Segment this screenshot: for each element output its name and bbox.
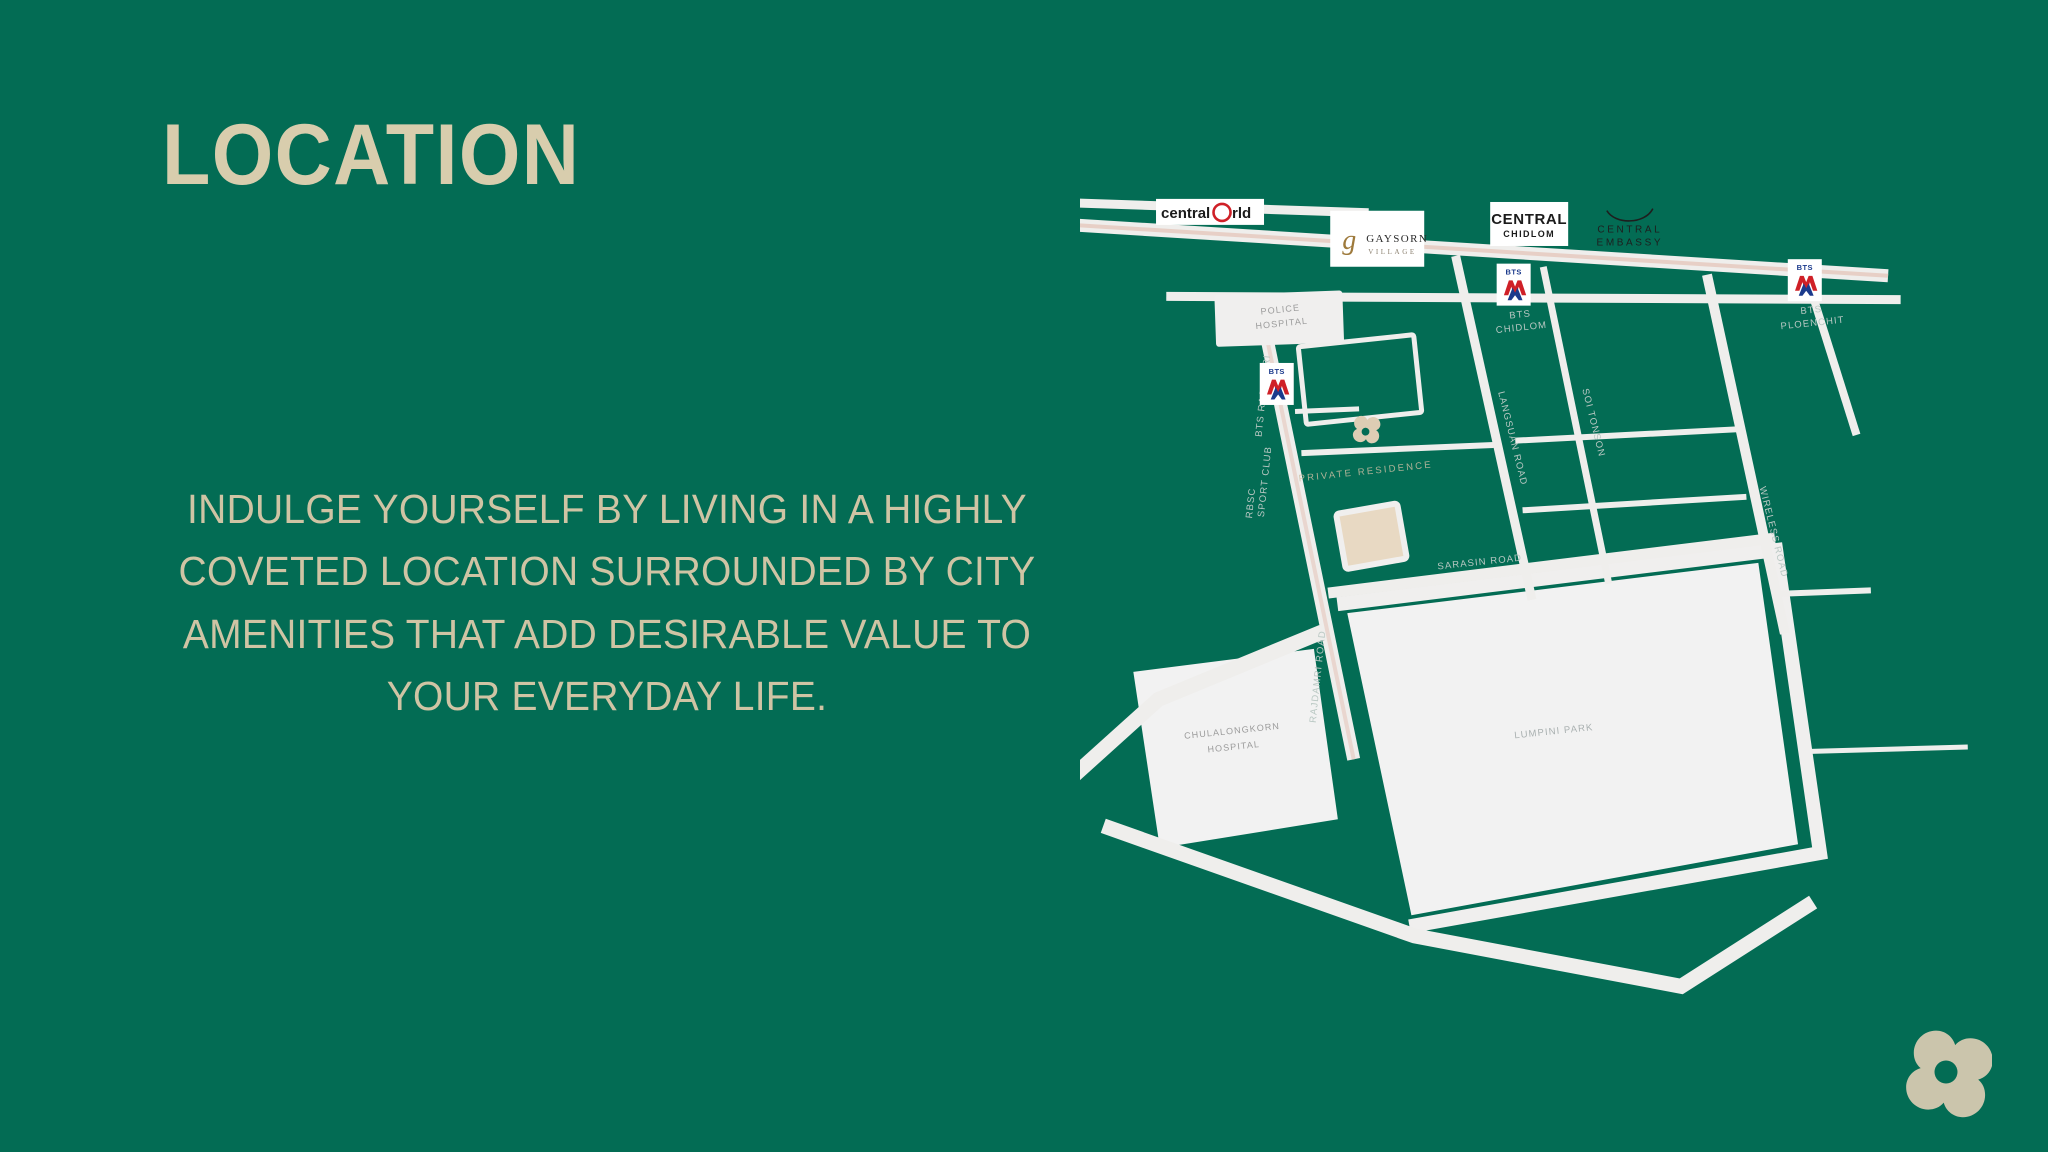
road-connector-f xyxy=(1811,735,1967,763)
brand-gaysorn-text-2: VILLAGE xyxy=(1368,248,1417,256)
road-connector-e xyxy=(1781,584,1871,599)
station-chidlom-label-1: BTS xyxy=(1509,308,1532,321)
bts-skytrain-line-horizontal xyxy=(1080,140,1888,366)
brand-gaysorn-text-1: GAYSORN xyxy=(1366,233,1428,245)
station-rajdamri-code: BTS xyxy=(1269,367,1285,376)
body-paragraph: INDULGE YOURSELF BY LIVING IN A HIGHLY C… xyxy=(137,478,1078,727)
brand-central-chidlom-text-1: CENTRAL xyxy=(1491,211,1567,228)
location-slide: LOCATION INDULGE YOURSELF BY LIVING IN A… xyxy=(0,0,2048,1152)
brand-central-chidlom-text-2: CHIDLOM xyxy=(1503,229,1555,239)
label-private-residence: PRIVATE RESIDENCE xyxy=(1298,459,1433,484)
brand-centralworld-text-b: rld xyxy=(1232,205,1251,222)
private-residence-building xyxy=(1336,503,1407,569)
station-ploenchit-code: BTS xyxy=(1797,263,1813,272)
road-connector-a xyxy=(1301,433,1493,465)
brand-centralworld[interactable]: central rld xyxy=(1156,199,1264,225)
station-ploenchit-label-2: PLOENCHIT xyxy=(1780,315,1845,333)
brand-central-chidlom[interactable]: CENTRAL CHIDLOM xyxy=(1490,202,1568,246)
station-bts-chidlom[interactable]: BTS xyxy=(1497,264,1531,306)
brand-gaysorn-monogram-icon: g xyxy=(1342,225,1356,256)
pinwheel-logo-icon xyxy=(1900,1026,1992,1118)
station-bts-ploenchit[interactable]: BTS xyxy=(1788,259,1822,301)
label-rbsc-line2: SPORT CLUB xyxy=(1256,446,1274,518)
station-chidlom-label-2: CHIDLOM xyxy=(1495,320,1547,336)
road-connector-d xyxy=(1523,487,1747,520)
brand-central-embassy-text-1: CENTRAL xyxy=(1597,225,1662,236)
page-title: LOCATION xyxy=(162,110,580,200)
brand-gaysorn-village[interactable]: g GAYSORN VILLAGE xyxy=(1330,211,1428,267)
station-ploenchit-label-1: BTS xyxy=(1800,304,1823,317)
brand-central-embassy[interactable]: CENTRAL EMBASSY xyxy=(1597,209,1664,249)
brand-centralworld-text-a: central xyxy=(1161,205,1210,222)
station-chidlom-code: BTS xyxy=(1506,268,1522,277)
road-connector-c xyxy=(1515,417,1739,452)
brand-central-embassy-swoosh-icon xyxy=(1607,209,1653,221)
station-bts-rajdamri[interactable]: BTS xyxy=(1260,363,1294,405)
brand-central-embassy-text-2: EMBASSY xyxy=(1597,238,1664,249)
location-map[interactable]: RAJDAMRI ROAD BTS RAJDAMRI RBSC SPORT CL… xyxy=(1080,140,1980,1060)
map-svg[interactable]: RAJDAMRI ROAD BTS RAJDAMRI RBSC SPORT CL… xyxy=(1080,140,1980,1060)
